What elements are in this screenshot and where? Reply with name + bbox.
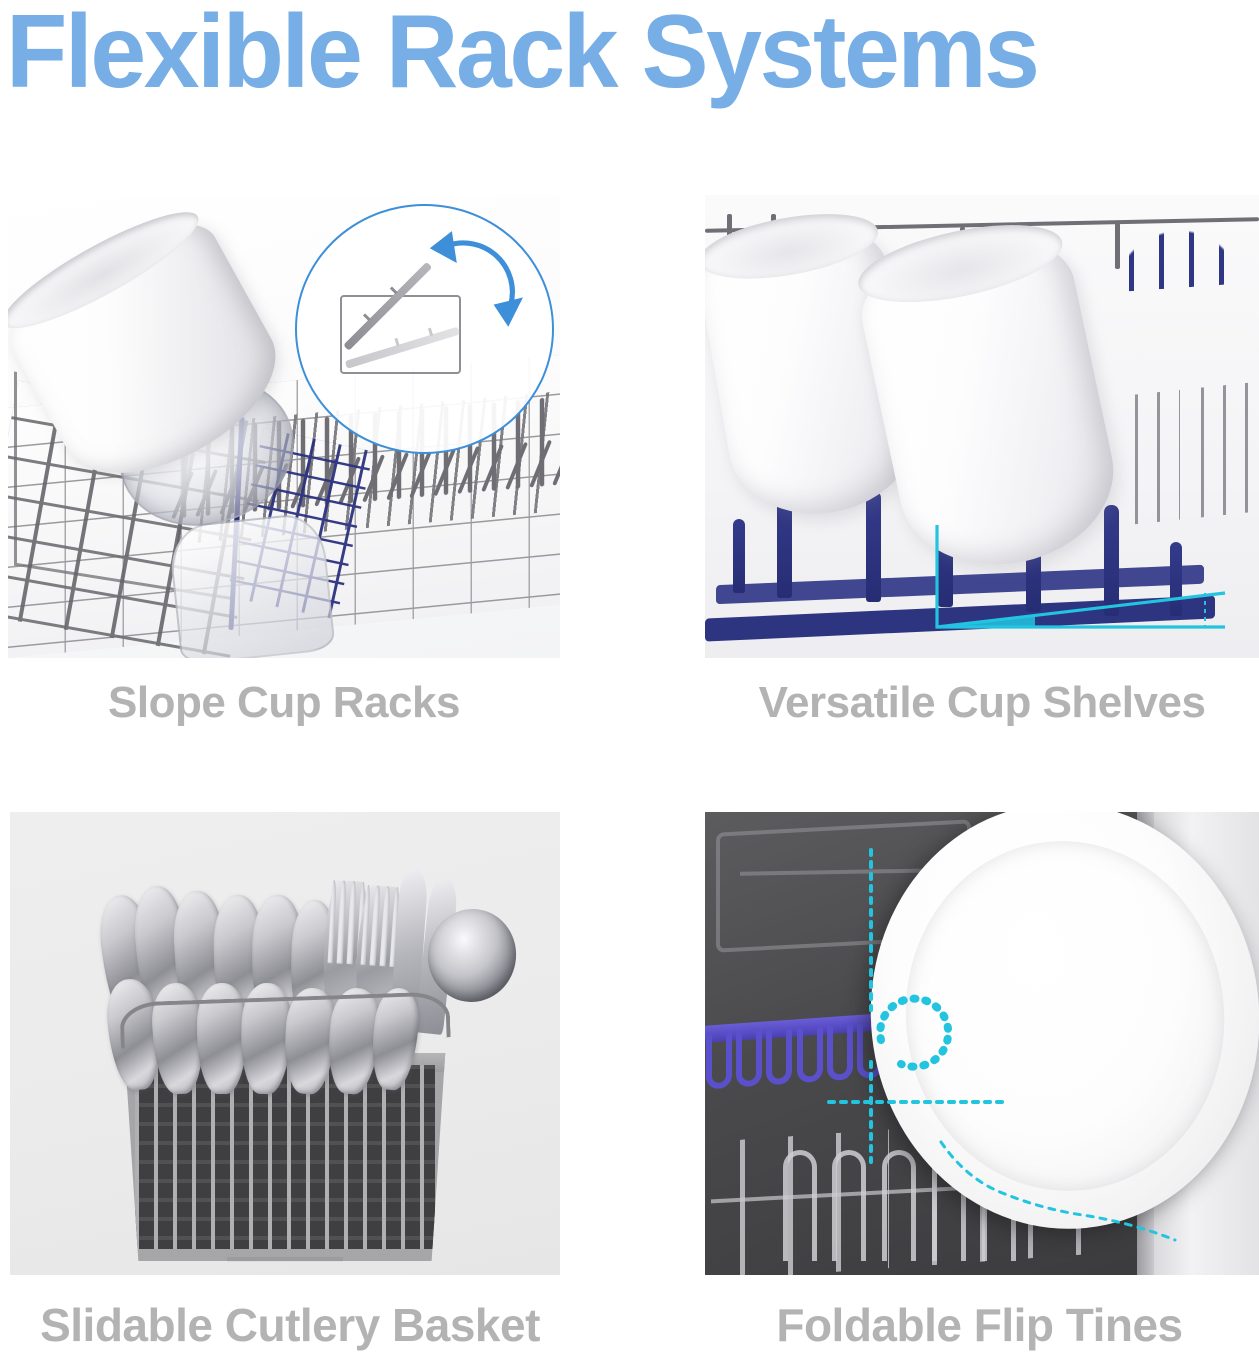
tine-arc: [882, 1150, 916, 1261]
flip-tine-loop: [706, 1033, 732, 1090]
photo-foldable-flip-tines: [705, 812, 1259, 1275]
rotate-arrow-icon: [420, 226, 543, 354]
photo-slidable-cutlery-basket: [10, 812, 560, 1275]
caption-foldable-flip-tines: Foldable Flip Tines: [700, 1298, 1259, 1352]
panel-foldable-flip-tines: [705, 812, 1259, 1275]
caption-slidable-cutlery-basket: Slidable Cutlery Basket: [10, 1298, 570, 1352]
tine-arc: [832, 1150, 866, 1261]
blue-shelf-prong: [733, 519, 745, 593]
flip-tine-loop: [737, 1031, 763, 1088]
flip-tine-loop: [827, 1024, 853, 1081]
blue-shelf-prong: [866, 491, 881, 602]
page-title: Flexible Rack Systems: [6, 0, 1212, 108]
glass-tumbler-lower: [167, 511, 335, 658]
flip-tine-loop: [797, 1026, 823, 1083]
blue-shelf-rail-lower: [705, 596, 1215, 642]
blue-shelf-prong: [1170, 542, 1182, 616]
panel-versatile-cup-shelves: [705, 195, 1259, 658]
white-mug-right: [851, 222, 1130, 584]
blue-cup-rack-rings: [1093, 208, 1259, 294]
flip-tine-loop: [767, 1029, 793, 1086]
caption-slope-cup-racks: Slope Cup Racks: [8, 678, 560, 728]
basket-foot: [227, 1257, 343, 1272]
gray-tine-group: [1126, 383, 1248, 525]
photo-versatile-cup-shelves: [705, 195, 1259, 658]
panel-slope-cup-racks: [8, 195, 560, 658]
caption-versatile-cup-shelves: Versatile Cup Shelves: [705, 678, 1259, 728]
callout-circle-rotate: [295, 204, 554, 454]
infographic-page: Flexible Rack Systems: [0, 0, 1259, 1359]
panel-slidable-cutlery-basket: [10, 812, 560, 1275]
blue-shelf-prong: [1104, 505, 1119, 616]
tine-arc: [783, 1150, 817, 1261]
photo-slope-cup-racks: [8, 195, 560, 658]
